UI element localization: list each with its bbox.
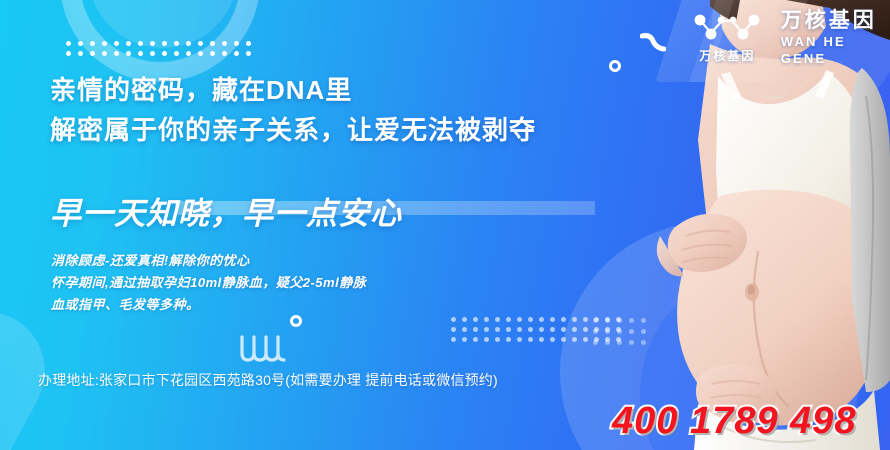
- headline-line-1: 亲情的密码，藏在DNA里: [50, 75, 352, 105]
- decor-dot: [210, 41, 215, 46]
- decor-dot: [495, 317, 500, 322]
- subheadline-block: 早一天知晓，早一点安心: [50, 188, 590, 238]
- decor-dot: [174, 41, 179, 46]
- decor-dot: [495, 337, 500, 342]
- decor-dot: [629, 340, 634, 345]
- decor-dot: [539, 327, 544, 332]
- decor-dot: [150, 51, 155, 56]
- decor-dot: [641, 329, 646, 334]
- decor-dot: [102, 51, 107, 56]
- decor-dot: [473, 337, 478, 342]
- decor-dot: [162, 51, 167, 56]
- decor-dot: [517, 327, 522, 332]
- decor-dot: [572, 337, 577, 342]
- decor-dot: [66, 51, 71, 56]
- decor-dot: [66, 41, 71, 46]
- decor-dot: [462, 317, 467, 322]
- decor-dot: [90, 41, 95, 46]
- decor-dot: [629, 318, 634, 323]
- decor-dot: [162, 41, 167, 46]
- decor-dot: [539, 337, 544, 342]
- decor-dot: [114, 41, 119, 46]
- decor-dot: [114, 51, 119, 56]
- decor-dot: [138, 51, 143, 56]
- decor-dot: [572, 327, 577, 332]
- decor-dot: [583, 317, 588, 322]
- decor-dot: [593, 340, 598, 345]
- decor-dot: [246, 41, 251, 46]
- decor-dot: [78, 41, 83, 46]
- decor-dot: [550, 337, 555, 342]
- decor-dot: [561, 337, 566, 342]
- decor-dot: [605, 340, 610, 345]
- decor-dot: [78, 51, 83, 56]
- decor-dot: [550, 317, 555, 322]
- decor-dot: [462, 327, 467, 332]
- dot-grid-right: [593, 318, 653, 351]
- decor-dot: [517, 337, 522, 342]
- decor-dot: [484, 337, 489, 342]
- decor-dot: [246, 51, 251, 56]
- decor-dot: [629, 329, 634, 334]
- pregnant-woman-photo: [590, 0, 890, 450]
- decor-dot: [539, 317, 544, 322]
- logo-wordmark: 万核基因 WAN HE GENE: [781, 8, 890, 67]
- decor-dot: [174, 51, 179, 56]
- decor-dot: [198, 41, 203, 46]
- decor-dot: [234, 41, 239, 46]
- dna-molecule-icon: [688, 11, 767, 45]
- address-text: 办理地址:张家口市下花园区西苑路30号(如需要办理 提前电话或微信预约): [38, 370, 498, 390]
- decor-dot: [484, 317, 489, 322]
- decor-dot: [617, 340, 622, 345]
- decor-dot: [583, 337, 588, 342]
- decor-dot: [210, 51, 215, 56]
- decor-dot: [561, 327, 566, 332]
- decor-dot: [186, 51, 191, 56]
- phone-number[interactable]: 400 1789 498: [612, 400, 856, 443]
- logo-mark: 万核基因: [688, 11, 767, 64]
- decor-dot: [150, 41, 155, 46]
- decor-dot: [617, 318, 622, 323]
- body-copy: 消除顾虑-还爱真相!解除你的忧心 怀孕期间,通过抽取孕妇10ml静脉血，疑父2-…: [51, 250, 366, 316]
- logo-name-en: WAN HE GENE: [781, 33, 890, 67]
- body-line-1: 消除顾虑-还爱真相!解除你的忧心: [51, 250, 366, 272]
- decor-dot: [186, 41, 191, 46]
- decor-dot: [641, 340, 646, 345]
- decor-dot: [198, 51, 203, 56]
- decor-dot: [473, 317, 478, 322]
- decor-dot: [495, 327, 500, 332]
- decor-dot: [126, 41, 131, 46]
- decor-dot: [234, 51, 239, 56]
- decor-dot: [561, 317, 566, 322]
- brand-logo[interactable]: 万核基因 万核基因 WAN HE GENE: [688, 8, 890, 67]
- decor-dot: [550, 327, 555, 332]
- decor-dot: [506, 337, 511, 342]
- decor-dot: [617, 329, 622, 334]
- decor-dot: [451, 337, 456, 342]
- circle-ring-icon: [609, 60, 621, 72]
- decor-dot: [593, 329, 598, 334]
- headline-line-2: 解密属于你的亲子关系，让爱无法被剥夺: [50, 110, 536, 150]
- decor-dot: [583, 327, 588, 332]
- decor-dot: [462, 337, 467, 342]
- page-title: 亲情的密码，藏在DNA里 解密属于你的亲子关系，让爱无法被剥夺: [50, 70, 536, 150]
- decor-dot: [506, 317, 511, 322]
- decor-dot: [451, 327, 456, 332]
- logo-name-cn: 万核基因: [781, 8, 890, 33]
- decor-dot: [138, 41, 143, 46]
- decor-dot: [593, 318, 598, 323]
- promo-banner: 万核基因 万核基因 WAN HE GENE 亲情的密码，藏在DNA里 解密属于你…: [0, 0, 890, 450]
- decor-dot: [473, 327, 478, 332]
- decor-dot: [528, 337, 533, 342]
- decor-dot: [641, 318, 646, 323]
- decor-dot: [528, 327, 533, 332]
- decor-dot: [517, 317, 522, 322]
- s-curve-icon: [640, 32, 666, 54]
- decor-dot: [102, 41, 107, 46]
- wave-squiggle-icon: [238, 333, 290, 363]
- decor-dot: [572, 317, 577, 322]
- decor-dot: [605, 318, 610, 323]
- decor-dot: [528, 317, 533, 322]
- decor-dot: [90, 51, 95, 56]
- decor-dot: [451, 317, 456, 322]
- decor-dot: [605, 329, 610, 334]
- logo-mark-label: 万核基因: [688, 47, 767, 64]
- subheadline: 早一天知晓，早一点安心: [50, 188, 402, 233]
- circle-ring-icon-secondary: [290, 315, 302, 327]
- decor-dot: [126, 51, 131, 56]
- body-line-3: 血或指甲、毛发等多种。: [51, 294, 366, 316]
- decor-dot: [222, 51, 227, 56]
- decor-dot: [506, 327, 511, 332]
- decor-dot: [484, 327, 489, 332]
- decor-dot: [222, 41, 227, 46]
- dot-grid-top-left: [66, 41, 258, 61]
- body-line-2: 怀孕期间,通过抽取孕妇10ml静脉血，疑父2-5ml静脉: [51, 272, 366, 294]
